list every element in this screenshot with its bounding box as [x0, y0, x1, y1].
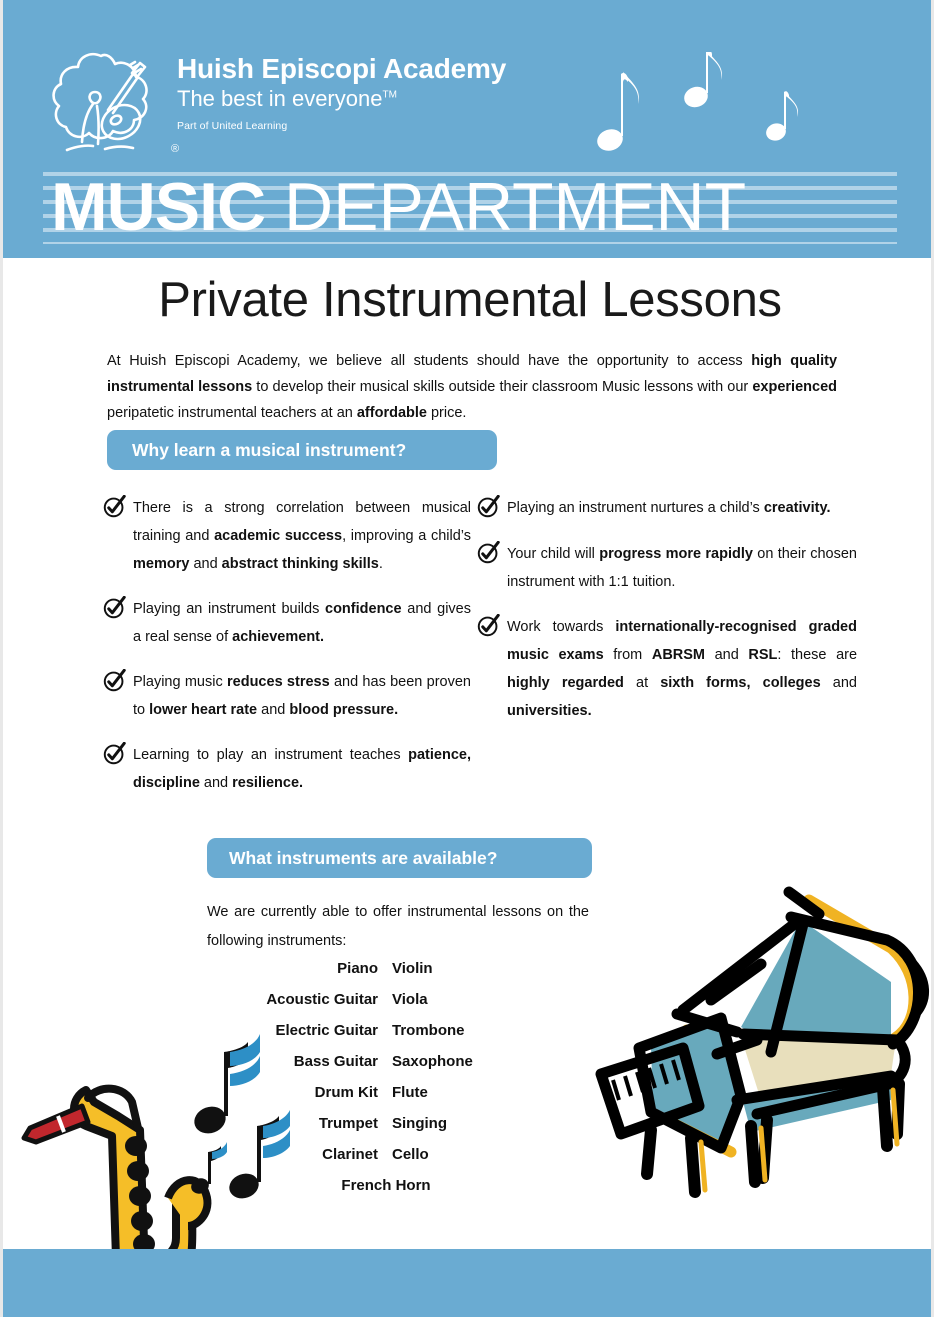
- header-band: Huish Episcopi Academy The best in every…: [3, 0, 934, 258]
- music-notes-icon: [588, 52, 823, 164]
- instrument-name: Trombone: [392, 1022, 552, 1039]
- section-heading-what: What instruments are available?: [207, 838, 592, 878]
- page-title: Private Instrumental Lessons: [3, 272, 934, 328]
- check-circle-icon: [103, 494, 133, 523]
- check-circle-icon: [477, 494, 507, 523]
- benefit-item: Learning to play an instrument teaches p…: [103, 741, 471, 797]
- poster-page: Huish Episcopi Academy The best in every…: [0, 0, 934, 1317]
- instrument-name: Saxophone: [392, 1053, 552, 1070]
- benefit-text-graded-exams: Work towards internationally-recognised …: [507, 613, 857, 725]
- tree-guitar-logo-icon: [49, 48, 169, 160]
- grand-piano-illustration: [591, 862, 934, 1202]
- instrument-name: Piano: [207, 960, 392, 977]
- school-logo: Huish Episcopi Academy The best in every…: [49, 48, 506, 160]
- instrument-name: Cello: [392, 1146, 552, 1163]
- benefit-text-creativity: Playing an instrument nurtures a child’s…: [507, 494, 857, 522]
- section-heading-why: Why learn a musical instrument?: [107, 430, 497, 470]
- benefit-item: Playing an instrument nurtures a child’s…: [477, 494, 857, 523]
- registered-trademark-icon: ®: [171, 143, 179, 155]
- benefit-item: Playing an instrument builds confidence …: [103, 595, 471, 651]
- department-title: MUSIC DEPARTMENT: [51, 168, 911, 246]
- benefit-item: Work towards internationally-recognised …: [477, 613, 857, 725]
- parent-organisation: Part of United Learning: [177, 120, 506, 132]
- check-circle-icon: [103, 668, 133, 697]
- instrument-row: Acoustic GuitarViola: [207, 991, 557, 1008]
- benefit-item: Playing music reduces stress and has bee…: [103, 668, 471, 724]
- benefits-column-right: Playing an instrument nurtures a child’s…: [477, 494, 857, 742]
- intro-paragraph: At Huish Episcopi Academy, we believe al…: [107, 348, 837, 426]
- benefit-text-reduces-stress: Playing music reduces stress and has bee…: [133, 668, 471, 724]
- check-circle-icon: [477, 540, 507, 569]
- instruments-intro: We are currently able to offer instrumen…: [207, 898, 589, 956]
- instrument-name: Singing: [392, 1115, 552, 1132]
- blue-notes-icon: [189, 1034, 290, 1202]
- instrument-name: Violin: [392, 960, 552, 977]
- check-circle-icon: [103, 595, 133, 624]
- instrument-name: Flute: [392, 1084, 552, 1101]
- department-title-department: DEPARTMENT: [265, 169, 746, 245]
- department-banner: MUSIC DEPARTMENT: [3, 168, 934, 248]
- department-title-music: MUSIC: [51, 169, 265, 245]
- instrument-name: Viola: [392, 991, 552, 1008]
- benefit-text-academic-success: There is a strong correlation between mu…: [133, 494, 471, 578]
- instrument-row: PianoViolin: [207, 960, 557, 977]
- benefit-item: Your child will progress more rapidly on…: [477, 540, 857, 596]
- benefit-text-confidence: Playing an instrument builds confidence …: [133, 595, 471, 651]
- logo-wordmark: Huish Episcopi Academy The best in every…: [177, 48, 506, 132]
- check-circle-icon: [477, 613, 507, 642]
- instrument-name: Acoustic Guitar: [207, 991, 392, 1008]
- benefit-text-progress-rapidly: Your child will progress more rapidly on…: [507, 540, 857, 596]
- footer-band: [3, 1249, 934, 1317]
- check-circle-icon: [103, 741, 133, 770]
- school-name: Huish Episcopi Academy: [177, 54, 506, 83]
- benefits-column-left: There is a strong correlation between mu…: [103, 494, 471, 814]
- school-tagline: The best in everyoneTM: [177, 86, 506, 112]
- benefit-item: There is a strong correlation between mu…: [103, 494, 471, 578]
- benefit-text-patience-discipline: Learning to play an instrument teaches p…: [133, 741, 471, 797]
